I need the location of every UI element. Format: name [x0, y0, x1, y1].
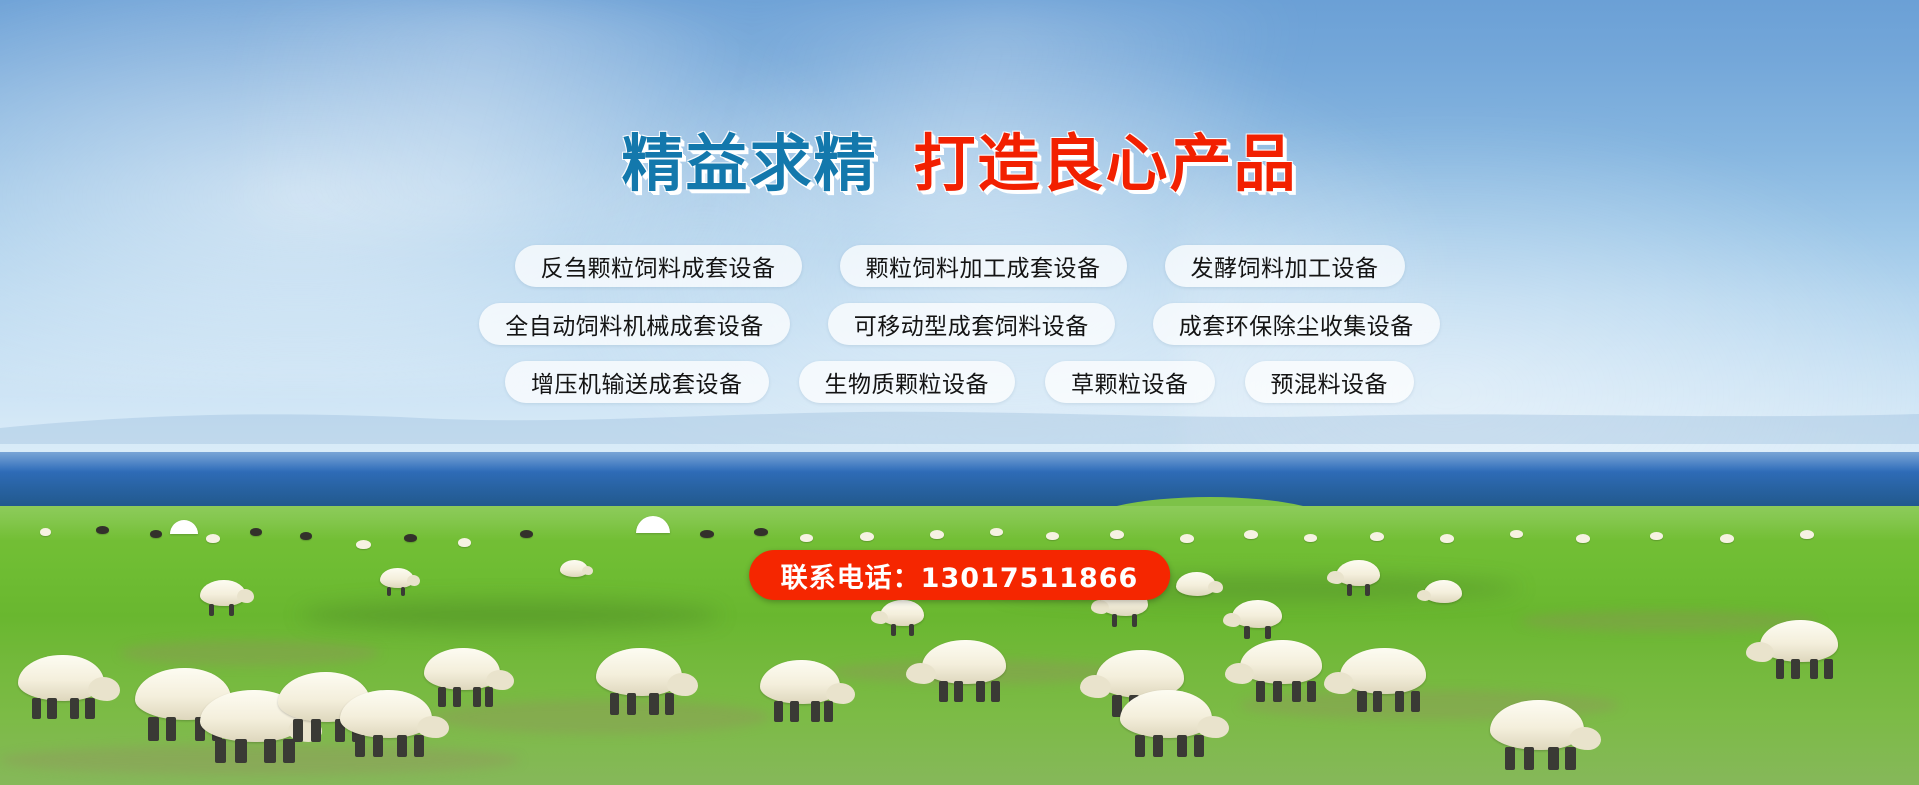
tag-biomass-pellet-equipment[interactable]: 生物质颗粒设备 — [799, 361, 1016, 403]
water-sheen — [0, 452, 1919, 472]
grassland — [0, 506, 1919, 785]
tag-mobile-complete-feed-equipment[interactable]: 可移动型成套饲料设备 — [828, 303, 1115, 345]
grassland-far-band — [0, 506, 1919, 540]
tag-booster-conveying-complete-equipment[interactable]: 增压机输送成套设备 — [505, 361, 769, 403]
tag-pellet-feed-processing-complete-equipment[interactable]: 颗粒饲料加工成套设备 — [840, 245, 1127, 287]
tag-grass-pellet-equipment[interactable]: 草颗粒设备 — [1045, 361, 1215, 403]
hero-banner: 精益求精打造良心产品 反刍颗粒饲料成套设备 颗粒饲料加工成套设备 发酵饲料加工设… — [0, 0, 1919, 785]
contact-phone-badge[interactable]: 联系电话：13017511866 — [749, 550, 1171, 600]
tag-complete-environmental-dust-collection-equipment[interactable]: 成套环保除尘收集设备 — [1153, 303, 1440, 345]
tag-fully-automatic-feed-machinery-complete-equipment[interactable]: 全自动饲料机械成套设备 — [479, 303, 790, 345]
tag-row-3: 增压机输送成套设备 生物质颗粒设备 草颗粒设备 预混料设备 — [0, 361, 1919, 403]
tag-row-2: 全自动饲料机械成套设备 可移动型成套饲料设备 成套环保除尘收集设备 — [0, 303, 1919, 345]
tag-premix-equipment[interactable]: 预混料设备 — [1245, 361, 1415, 403]
tag-fermented-feed-processing-equipment[interactable]: 发酵饲料加工设备 — [1165, 245, 1405, 287]
tag-ruminant-pellet-feed-complete-equipment[interactable]: 反刍颗粒饲料成套设备 — [515, 245, 802, 287]
product-tag-rows: 反刍颗粒饲料成套设备 颗粒饲料加工成套设备 发酵饲料加工设备 全自动饲料机械成套… — [0, 245, 1919, 419]
tag-row-1: 反刍颗粒饲料成套设备 颗粒饲料加工成套设备 发酵饲料加工设备 — [0, 245, 1919, 287]
